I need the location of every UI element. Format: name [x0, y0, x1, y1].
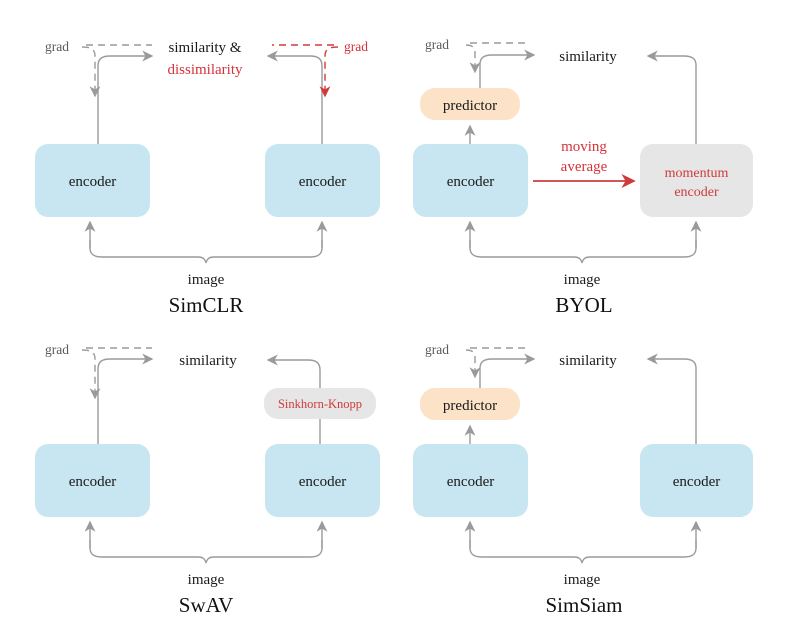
simsiam-predictor-label: predictor	[443, 398, 497, 414]
byol-encoder-label: encoder	[447, 174, 494, 190]
simclr-image-label: image	[188, 272, 225, 288]
byol-grad-arrow	[466, 45, 475, 72]
panel-byol: predictor encoder momentum encoder movin…	[413, 37, 753, 317]
swav-encoder-right-label: encoder	[299, 474, 346, 490]
byol-grad-label: grad	[425, 37, 449, 52]
simsiam-encoder-right-label: encoder	[673, 474, 720, 490]
byol-momentum-label-line1: momentum	[665, 166, 729, 181]
grad-arrow-right	[325, 47, 338, 96]
swav-objective-label: similarity	[179, 353, 237, 369]
simclr-title: SimCLR	[169, 293, 244, 317]
image-brace	[90, 240, 322, 263]
swav-encoder-left-label: encoder	[69, 474, 116, 490]
simsiam-forward-arrow-right	[648, 359, 696, 444]
simsiam-objective-label: similarity	[559, 353, 617, 369]
simsiam-grad-arrow	[466, 350, 475, 377]
swav-title: SwAV	[179, 593, 233, 617]
simclr-grad-left-label: grad	[45, 39, 69, 54]
simclr-objective-line1: similarity &	[169, 40, 242, 56]
swav-image-brace	[90, 540, 322, 563]
byol-image-brace	[470, 240, 696, 263]
panel-simsiam: predictor encoder encoder grad similarit…	[413, 342, 753, 617]
panel-swav: encoder Sinkhorn-Knopp encoder grad simi…	[35, 342, 380, 617]
byol-momentum-label-line2: encoder	[674, 185, 719, 200]
simsiam-encoder-left-label: encoder	[447, 474, 494, 490]
byol-title: BYOL	[555, 293, 612, 317]
forward-arrow-left	[98, 56, 152, 144]
simsiam-image-label: image	[564, 572, 601, 588]
swav-image-label: image	[188, 572, 225, 588]
simsiam-title: SimSiam	[545, 593, 622, 617]
swav-grad-arrow	[82, 350, 95, 398]
simclr-encoder-right-label: encoder	[299, 174, 346, 190]
simsiam-grad-label: grad	[425, 342, 449, 357]
swav-sinkhorn-knopp-label: Sinkhorn-Knopp	[278, 397, 362, 411]
byol-moving-line2: average	[561, 159, 608, 175]
byol-moving-line1: moving	[561, 139, 607, 155]
grad-arrow-left	[82, 47, 95, 96]
panel-simclr: encoder encoder grad grad similarity & d…	[35, 39, 380, 317]
simclr-encoder-left-label: encoder	[69, 174, 116, 190]
swav-grad-label: grad	[45, 342, 69, 357]
simsiam-forward-arrow-left	[480, 359, 534, 388]
swav-forward-arrow-right	[268, 360, 320, 388]
diagram-svg: encoder encoder grad grad similarity & d…	[0, 0, 790, 636]
byol-predictor-label: predictor	[443, 98, 497, 114]
simclr-objective-line2: dissimilarity	[168, 62, 244, 78]
byol-forward-arrow-left	[480, 55, 534, 88]
byol-forward-arrow-right	[648, 56, 696, 144]
swav-forward-arrow-left	[98, 359, 152, 444]
byol-image-label: image	[564, 272, 601, 288]
simclr-grad-right-label: grad	[344, 39, 368, 54]
simsiam-image-brace	[470, 540, 696, 563]
byol-objective-label: similarity	[559, 49, 617, 65]
figure-canvas: encoder encoder grad grad similarity & d…	[0, 0, 790, 636]
forward-arrow-right	[268, 56, 322, 144]
